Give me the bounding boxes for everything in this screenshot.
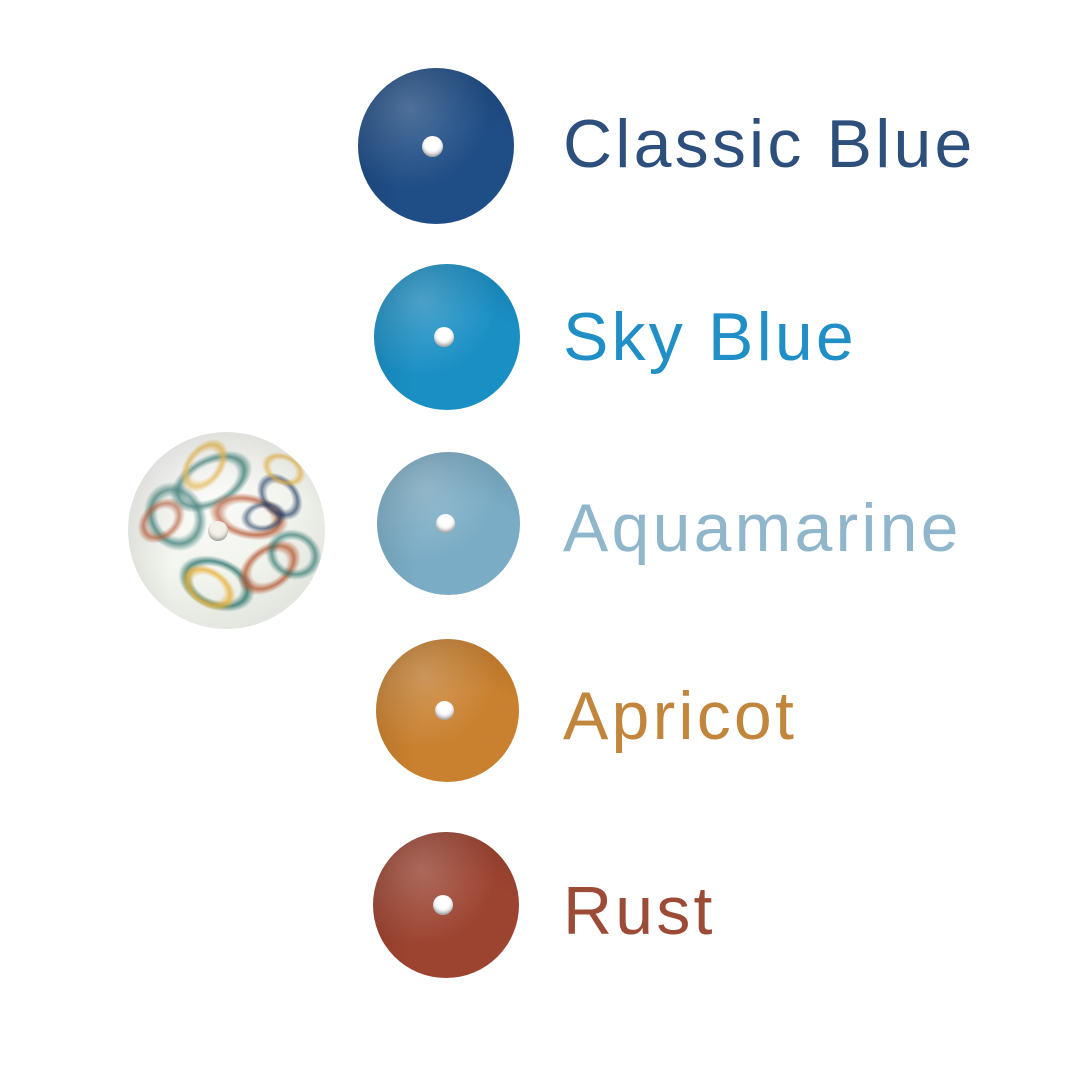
swatch-chart-canvas: Classic Blue Sky Blue Aquamarine Apricot (0, 0, 1080, 1080)
swatch-label-rust: Rust (563, 877, 716, 945)
bead-swatch-rust[interactable] (373, 832, 519, 978)
bead-hole (433, 895, 453, 915)
swatch-row-rust[interactable]: Rust (0, 0, 1080, 1080)
